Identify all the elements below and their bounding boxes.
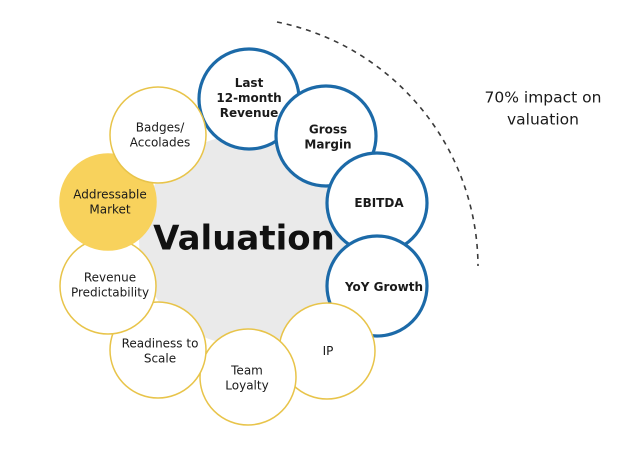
node-label-line: Addressable bbox=[73, 187, 146, 201]
node-label-badges-accolades: Badges/Accolades bbox=[130, 120, 190, 149]
node-label-line: Market bbox=[89, 202, 131, 216]
node-label-yoy-growth: YoY Growth bbox=[344, 280, 423, 294]
node-label-ip: IP bbox=[323, 344, 334, 358]
node-circle-team-loyalty[interactable] bbox=[200, 329, 296, 425]
node-label-line: Loyalty bbox=[225, 378, 268, 392]
node-label-line: Revenue bbox=[84, 270, 136, 284]
node-label-line: 12-month bbox=[216, 91, 281, 105]
valuation-diagram: Valuation Last12-monthRevenueGrossMargin… bbox=[0, 0, 630, 450]
node-label-gross-margin: GrossMargin bbox=[304, 122, 351, 151]
impact-callout-line-1: 70% impact on bbox=[485, 89, 602, 107]
center-label: Valuation bbox=[153, 219, 335, 259]
node-label-line: Team bbox=[230, 363, 263, 377]
impact-callout: 70% impact on valuation bbox=[485, 89, 602, 129]
impact-callout-line-2: valuation bbox=[507, 111, 579, 129]
node-label-line: Margin bbox=[304, 137, 351, 151]
node-label-line: YoY Growth bbox=[344, 280, 423, 294]
node-label-team-loyalty: TeamLoyalty bbox=[225, 363, 268, 392]
node-label-line: Gross bbox=[309, 122, 347, 136]
node-label-line: Revenue bbox=[220, 106, 279, 120]
node-label-line: Readiness to bbox=[122, 336, 199, 350]
node-label-ebitda: EBITDA bbox=[354, 196, 404, 210]
node-label-line: Last bbox=[235, 76, 264, 90]
node-label-line: EBITDA bbox=[354, 196, 404, 210]
node-label-line: Scale bbox=[144, 351, 176, 365]
node-label-line: IP bbox=[323, 344, 334, 358]
node-label-line: Accolades bbox=[130, 135, 190, 149]
valuation-wheel-svg: Valuation Last12-monthRevenueGrossMargin… bbox=[0, 0, 630, 450]
node-label-line: Predictability bbox=[71, 285, 149, 299]
node-label-line: Badges/ bbox=[136, 120, 185, 134]
